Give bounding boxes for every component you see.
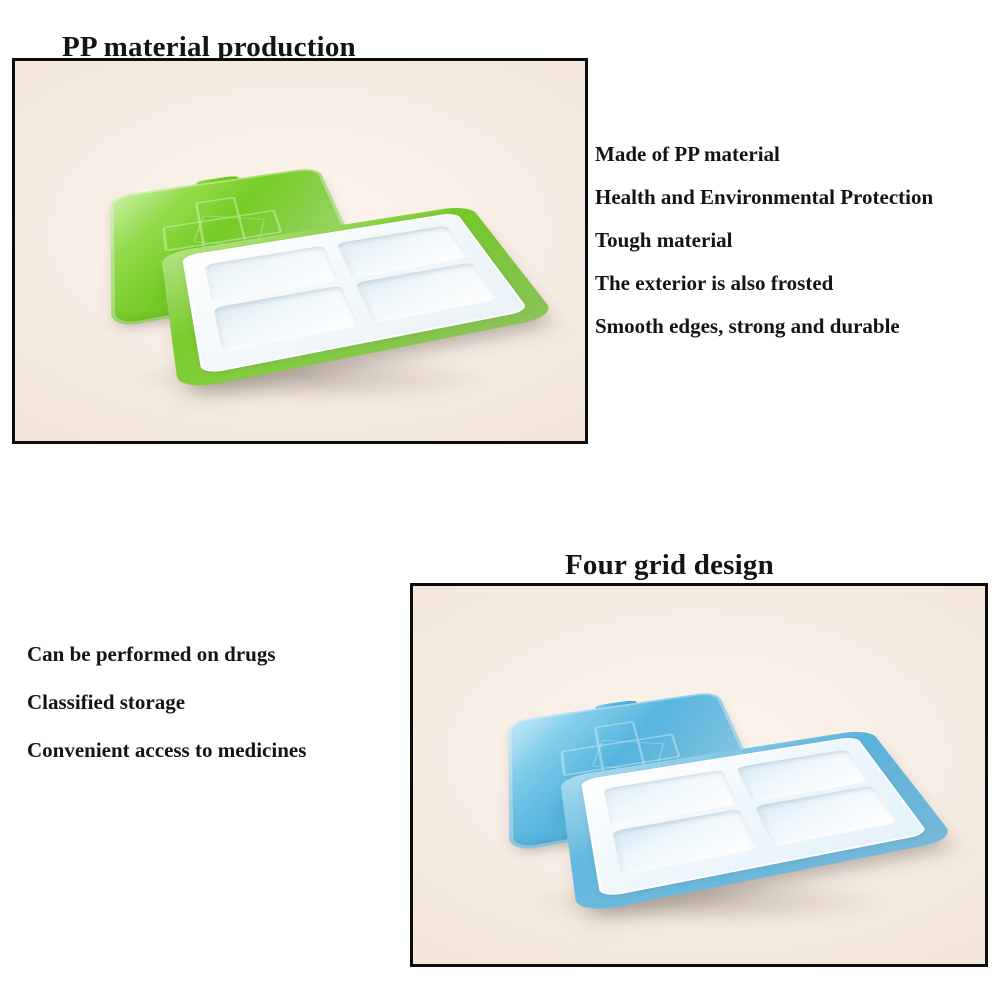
product-photo-frame-green [12,58,588,444]
feature-item: Smooth edges, strong and durable [595,305,933,348]
section-title-four-grid: Four grid design [565,549,774,582]
feature-item: Made of PP material [595,133,933,176]
feature-item: Health and Environmental Protection [595,176,933,219]
feature-item: Convenient access to medicines [27,726,306,774]
feature-list-four-grid: Can be performed on drugs Classified sto… [27,630,306,774]
blue-pill-box [413,586,985,964]
feature-item: Can be performed on drugs [27,630,306,678]
product-photo-frame-blue [410,583,988,967]
feature-item: Classified storage [27,678,306,726]
green-pill-box [15,61,585,441]
feature-item: Tough material [595,219,933,262]
photo-backdrop [15,61,585,441]
feature-list-pp-material: Made of PP material Health and Environme… [595,133,933,348]
product-infographic-page: { "page": { "background": "#ffffff", "ph… [0,0,1000,1000]
feature-item: The exterior is also frosted [595,262,933,305]
photo-backdrop [413,586,985,964]
